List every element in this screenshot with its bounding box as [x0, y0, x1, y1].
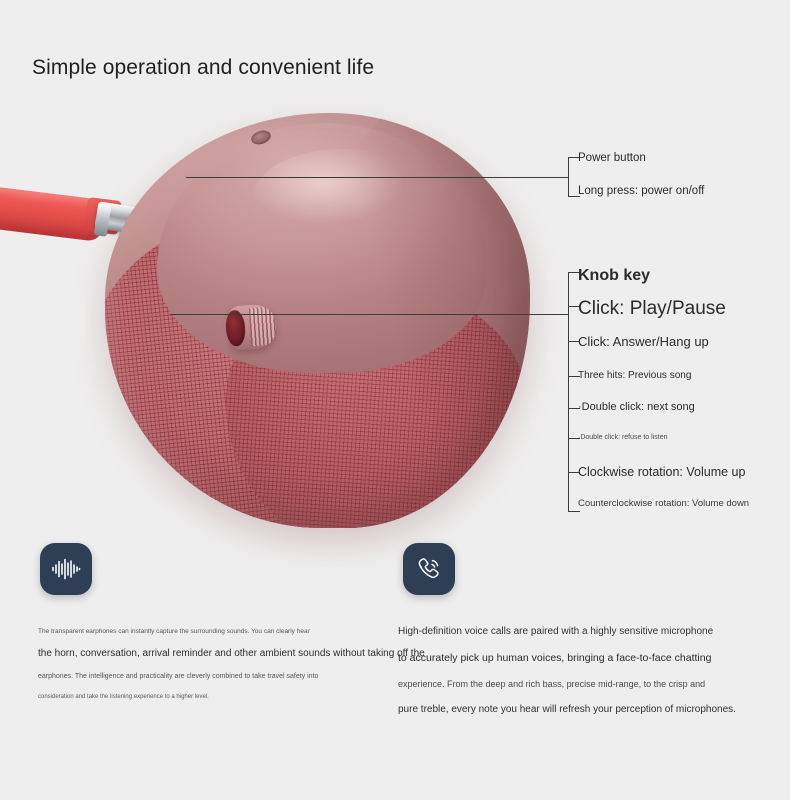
earcup	[105, 113, 530, 528]
headphone-illustration	[0, 95, 600, 535]
page-title: Simple operation and convenient life	[32, 56, 374, 80]
feature-line: High-definition voice calls are paired w…	[398, 626, 728, 637]
feature-line: consideration and take the listening exp…	[38, 694, 368, 700]
leader-line-knob	[170, 314, 568, 315]
callout-double-click-next: ·Double click: next song	[578, 401, 695, 413]
leader-line-power	[186, 177, 568, 178]
bracket-power	[568, 157, 569, 197]
callout-clockwise-volume-up: Clockwise rotation: Volume up	[578, 465, 745, 479]
callout-double-click-refuse: ·Double click: refuse to listen	[578, 434, 667, 441]
feature-badge-transparency	[40, 543, 92, 595]
feature-line: pure treble, every note you hear will re…	[398, 704, 728, 715]
feature-line: earphones. The intelligence and practica…	[38, 673, 368, 680]
bracket-tick-knob-8	[568, 511, 580, 512]
feature-text-transparency: The transparent earphones can instantly …	[38, 628, 368, 700]
callout-knob-key: Knob key	[578, 267, 650, 285]
callout-three-hits: Three hits: Previous song	[578, 370, 691, 381]
bracket-knob	[568, 272, 569, 512]
infographic-canvas: Simple operation and convenient life	[0, 0, 790, 800]
feature-text-voice-call: High-definition voice calls are paired w…	[398, 626, 728, 715]
callout-long-press: Long press: power on/off	[578, 185, 704, 197]
callout-click-play-pause: Click: Play/Pause	[578, 298, 726, 320]
phone-call-icon	[415, 555, 443, 583]
callout-ccw-volume-down: Counterclockwise rotation: Volume down	[578, 498, 749, 509]
feature-line: experience. From the deep and rich bass,…	[398, 679, 728, 689]
feature-line: The transparent earphones can instantly …	[38, 628, 368, 635]
callout-click-answer: Click: Answer/Hang up	[578, 334, 709, 349]
feature-badge-voice-call	[403, 543, 455, 595]
feature-line: the horn, conversation, arrival reminder…	[38, 648, 368, 659]
audio-waveform-icon	[51, 558, 81, 580]
feature-line: to accurately pick up human voices, brin…	[398, 652, 728, 664]
callout-power-button: Power button	[578, 152, 646, 164]
